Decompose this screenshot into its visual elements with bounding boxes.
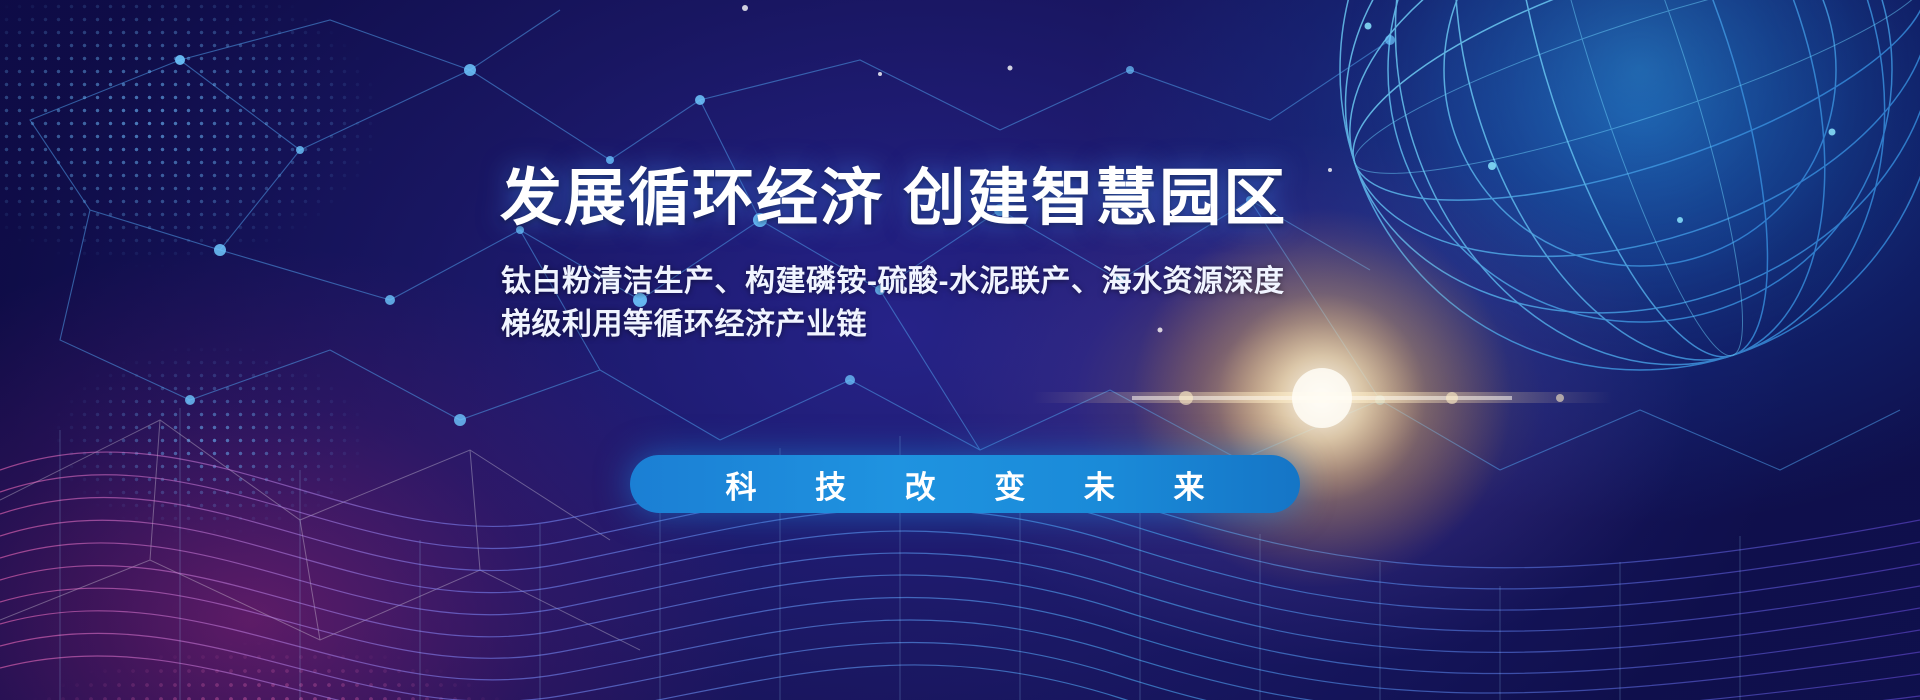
hero-banner: 科 技 改 变 未 来 发展循环经济 创建智慧园区 钛白粉清洁生产、构建磷铵-硫… [0, 0, 1920, 700]
cta-button[interactable]: 科 技 改 变 未 来 [630, 455, 1300, 513]
cta-label: 科 技 改 变 未 来 [700, 462, 1229, 507]
light-burst [0, 0, 1920, 700]
